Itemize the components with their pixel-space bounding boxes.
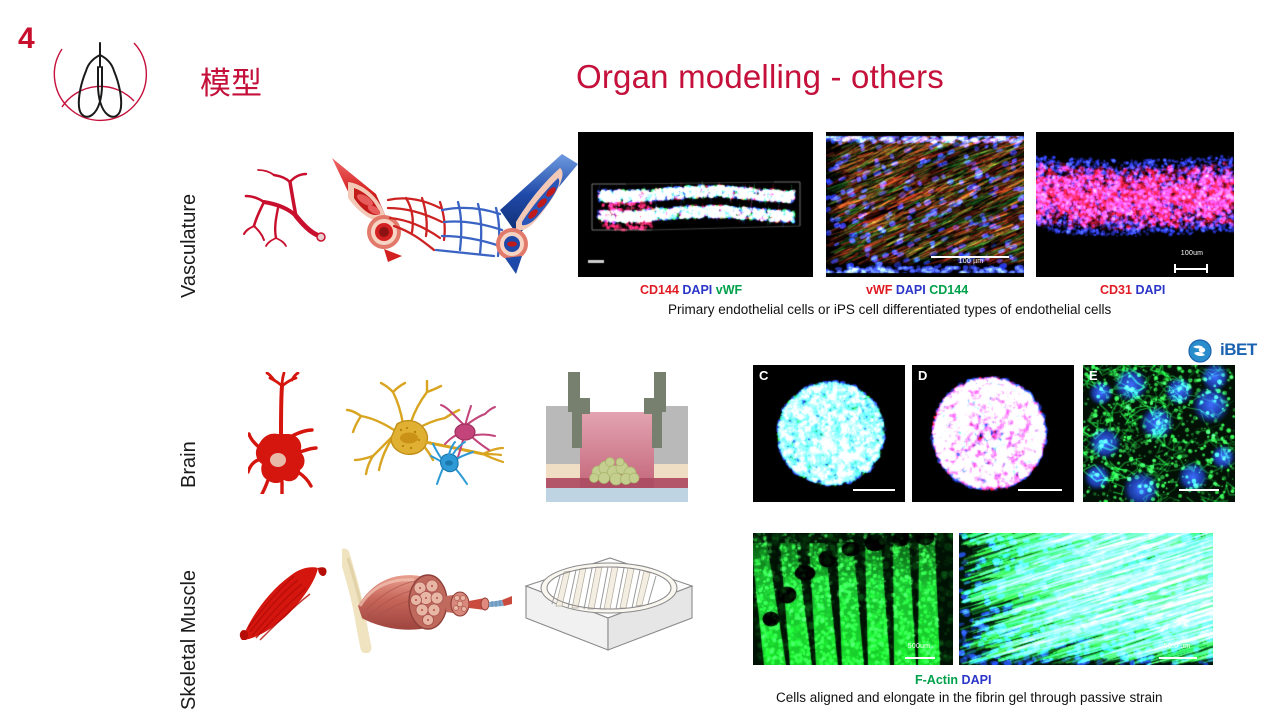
slide-canvas: 4 模型 Organ modelling - others Vasculatur…	[0, 0, 1280, 720]
scalebar-line	[1159, 657, 1197, 659]
marker-label: DAPI	[962, 673, 992, 687]
scalebar-line	[853, 489, 895, 491]
scalebar-line	[1179, 489, 1219, 491]
marker-label: DAPI	[1135, 283, 1165, 297]
vessel-tree-illustration	[242, 168, 327, 248]
artery-capillary-vein-illustration	[330, 152, 580, 280]
vessel-3d-reconstruction: —	[578, 132, 813, 277]
scalebar-line	[1018, 489, 1062, 491]
marker-caption-muscle: F-Actin DAPI	[915, 673, 991, 687]
caption-vasculature: Primary endothelial cells or iPS cell di…	[668, 302, 1111, 317]
scalebar-line	[1174, 268, 1208, 270]
panel-letter-d: D	[918, 368, 927, 383]
lungs-badge-icon	[30, 15, 170, 135]
scalebar-line	[905, 657, 935, 659]
ibet-logo: iBET	[1186, 338, 1272, 364]
aligned-myotubes-green-blue: 50.0 um	[959, 533, 1213, 665]
marker-caption-vasculature-3: CD31 DAPI	[1100, 283, 1165, 297]
myotube-posts-green: 500um	[753, 533, 953, 665]
marker-label: CD31	[1100, 283, 1132, 297]
scalebar-label: 100 µm	[931, 258, 1011, 265]
spheroid-red-blue: D	[912, 365, 1074, 502]
muscle-anatomy-illustration	[342, 548, 512, 653]
scalebar-cap-right	[1206, 264, 1208, 273]
neuron-network-illustration	[345, 380, 505, 490]
panel-letter-e: E	[1089, 368, 1098, 383]
marker-label: F-Actin	[915, 673, 958, 687]
row-label-brain: Brain	[178, 398, 201, 488]
scalebar-line	[931, 256, 1009, 258]
panel-letter-c: C	[759, 368, 768, 383]
endothelial-fibrous-network: 100 µm	[826, 132, 1024, 277]
red-neuron-illustration	[248, 372, 318, 494]
marker-label: CD144	[929, 283, 968, 297]
neurite-network-green: E	[1083, 365, 1235, 502]
page-title: Organ modelling - others	[400, 58, 1120, 96]
marker-label: vWF	[716, 283, 742, 297]
marker-caption-vasculature-1: CD144 DAPI vWF	[640, 283, 742, 297]
spheroid-green-blue: C	[753, 365, 905, 502]
muscle-culture-dish-illustration	[518, 552, 698, 662]
marker-label: DAPI	[896, 283, 926, 297]
marker-label: vWF	[866, 283, 892, 297]
culture-chamber-cross-section	[546, 368, 688, 502]
marker-label: CD144	[640, 283, 679, 297]
muscle-belly-illustration	[238, 560, 328, 645]
scalebar-label: 100um	[1164, 250, 1220, 257]
marker-label: DAPI	[682, 283, 712, 297]
row-label-skeletal-muscle: Skeletal Muscle	[178, 525, 201, 710]
row-label-vasculature: Vasculature	[178, 133, 201, 298]
slide-number: 4	[18, 22, 34, 56]
scalebar-label: 500um	[893, 643, 945, 650]
ibet-wordmark: iBET	[1220, 340, 1257, 360]
scalebar-label: 50.0 um	[1149, 643, 1205, 650]
cd31-dapi-vessel: 100um	[1036, 132, 1234, 277]
caption-skeletal-muscle: Cells aligned and elongate in the fibrin…	[776, 690, 1163, 705]
section-label-chinese: 模型	[200, 58, 262, 103]
scalebar-cap-left	[1174, 264, 1176, 273]
marker-caption-vasculature-2: vWF DAPI CD144	[866, 283, 968, 297]
